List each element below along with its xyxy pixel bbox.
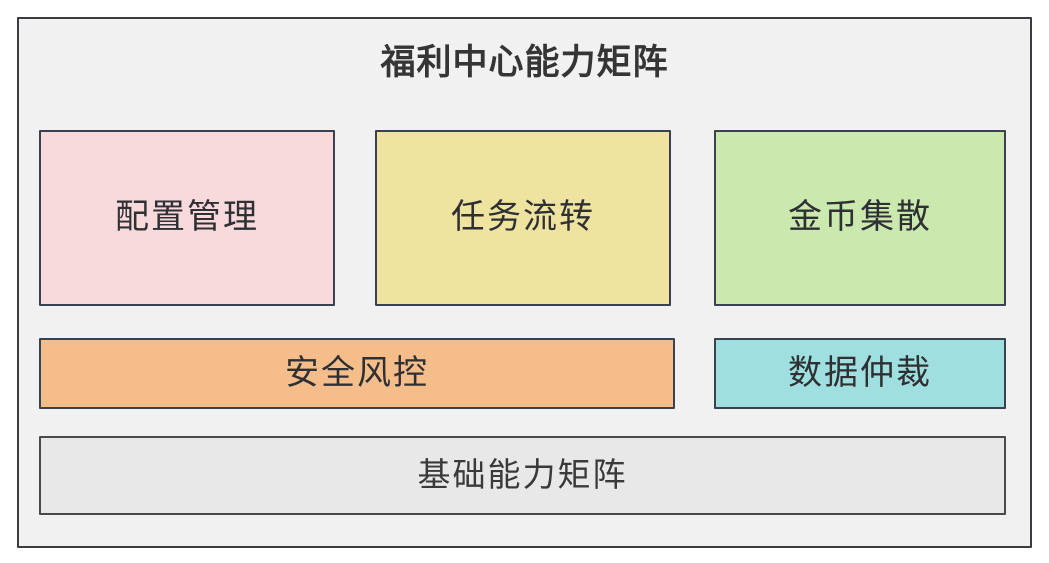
diagram-root: 福利中心能力矩阵 配置管理 任务流转 金币集散 安全风控 数据仲裁 基础能力矩阵 — [0, 0, 1049, 563]
page-title: 福利中心能力矩阵 — [19, 40, 1030, 86]
capability-matrix-panel: 福利中心能力矩阵 配置管理 任务流转 金币集散 安全风控 数据仲裁 基础能力矩阵 — [17, 17, 1032, 548]
capability-label: 数据仲裁 — [788, 355, 932, 392]
capability-label: 安全风控 — [285, 355, 429, 392]
capability-box-task-flow[interactable]: 任务流转 — [375, 130, 671, 306]
capability-box-config-management[interactable]: 配置管理 — [39, 130, 335, 306]
capability-box-security-risk-control[interactable]: 安全风控 — [39, 338, 675, 409]
capability-label: 基础能力矩阵 — [418, 457, 628, 493]
capability-box-coin-distribution[interactable]: 金币集散 — [714, 130, 1006, 306]
capability-box-data-arbitration[interactable]: 数据仲裁 — [714, 338, 1006, 409]
capability-label: 任务流转 — [451, 199, 595, 236]
capability-label: 配置管理 — [115, 199, 259, 236]
capability-label: 金币集散 — [788, 199, 932, 236]
capability-box-foundation-matrix[interactable]: 基础能力矩阵 — [39, 436, 1006, 515]
